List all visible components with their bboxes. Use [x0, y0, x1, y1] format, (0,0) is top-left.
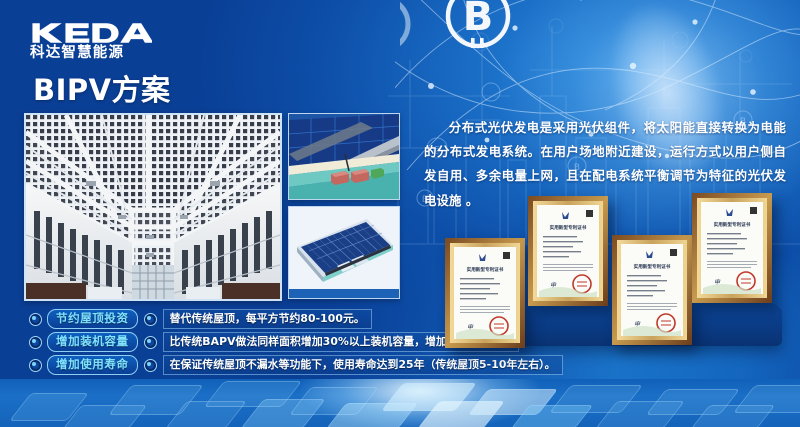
thumbnail-mounting-detail[interactable] — [288, 113, 400, 200]
svg-text:实用新型专利证书: 实用新型专利证书 — [714, 221, 751, 228]
thumbnail-solar-array[interactable] — [288, 206, 400, 299]
bullet-dot-icon — [144, 359, 157, 372]
feature-badge: 增加装机容量 — [47, 332, 138, 353]
certificate-frame[interactable]: 实用新型专利证书 申 — [612, 235, 692, 345]
bullet-dot-icon — [29, 336, 42, 349]
page-title: BIPV方案 — [33, 76, 171, 105]
feature-row: 节约屋顶投资 替代传统屋顶，每平方节约80-100元。 — [29, 308, 489, 330]
svg-text:实用新型专利证书: 实用新型专利证书 — [467, 266, 504, 273]
feature-badge: 节约屋顶投资 — [47, 309, 138, 330]
certificate-frame[interactable]: 实用新型专利证书 申 — [692, 193, 772, 303]
atrium-photo — [24, 113, 282, 301]
bullet-dot-icon — [144, 336, 157, 349]
certificate-frame[interactable]: 实用新型专利证书 申 — [528, 196, 608, 306]
bullet-dot-icon — [144, 313, 157, 326]
feature-description: 在保证传统屋顶不漏水等功能下，使用寿命达到25年（传统屋顶5-10年左右）。 — [163, 355, 563, 376]
keda-wordmark-icon — [30, 22, 152, 44]
certificate-frame[interactable]: 实用新型专利证书 申 — [445, 238, 525, 348]
svg-text:B: B — [463, 0, 494, 40]
svg-text:实用新型专利证书: 实用新型专利证书 — [550, 224, 587, 231]
feature-row: 增加装机容量 比传统BAPV做法同样面积增加30%以上装机容量，增加绿电发电量。 — [29, 331, 489, 353]
feature-description: 替代传统屋顶，每平方节约80-100元。 — [163, 309, 372, 330]
bottom-tile-band — [0, 379, 800, 427]
feature-badge: 增加使用寿命 — [47, 355, 138, 376]
bullet-dot-icon — [29, 359, 42, 372]
bipv-poster: BB BB B@ B 科达智慧能源 — [0, 0, 800, 427]
bullet-dot-icon — [29, 313, 42, 326]
brand-logo: 科达智慧能源 — [30, 22, 148, 61]
brand-name-cn: 科达智慧能源 — [30, 46, 148, 61]
svg-text:实用新型专利证书: 实用新型专利证书 — [634, 263, 671, 270]
feature-row: 增加使用寿命 在保证传统屋顶不漏水等功能下，使用寿命达到25年（传统屋顶5-10… — [29, 354, 489, 376]
feature-list: 节约屋顶投资 替代传统屋顶，每平方节约80-100元。 增加装机容量 比传统BA… — [29, 308, 489, 377]
